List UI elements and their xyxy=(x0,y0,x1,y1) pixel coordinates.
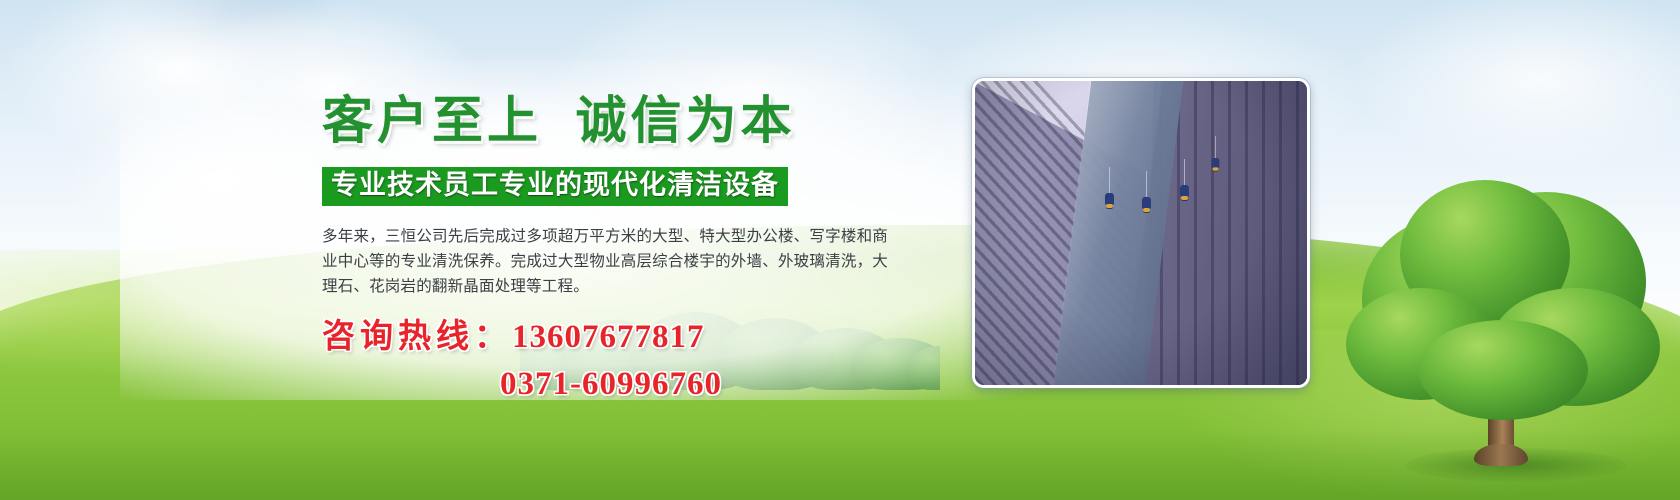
promo-banner: 客户至上 诚信为本 专业技术员工专业的现代化清洁设备 多年来，三恒公司先后完成过… xyxy=(0,0,1680,500)
hotline-label: 咨询热线： xyxy=(322,319,512,355)
subhead-green-bar: 专业技术员工专业的现代化清洁设备 xyxy=(322,167,788,206)
headline-slogan: 客户至上 诚信为本 xyxy=(322,96,902,150)
contact-block: 咨询热线：13607677817 0371-60996760 xyxy=(322,319,742,403)
tree-illustration xyxy=(1340,180,1670,480)
hotline-landline-number[interactable]: 0371-60996760 xyxy=(322,366,742,403)
building-photo-card[interactable] xyxy=(972,78,1310,388)
building-photo xyxy=(975,81,1307,385)
subhead-text: 专业技术员工专业的现代化清洁设备 xyxy=(331,172,779,199)
hotline-mobile-number[interactable]: 13607677817 xyxy=(512,319,705,355)
photo-vignette xyxy=(975,81,1307,385)
hotline-row: 咨询热线：13607677817 xyxy=(322,319,742,356)
banner-copy: 客户至上 诚信为本 专业技术员工专业的现代化清洁设备 多年来，三恒公司先后完成过… xyxy=(322,96,902,403)
company-description: 多年来，三恒公司先后完成过多项超万平方米的大型、特大型办公楼、写字楼和商业中心等… xyxy=(322,224,888,299)
